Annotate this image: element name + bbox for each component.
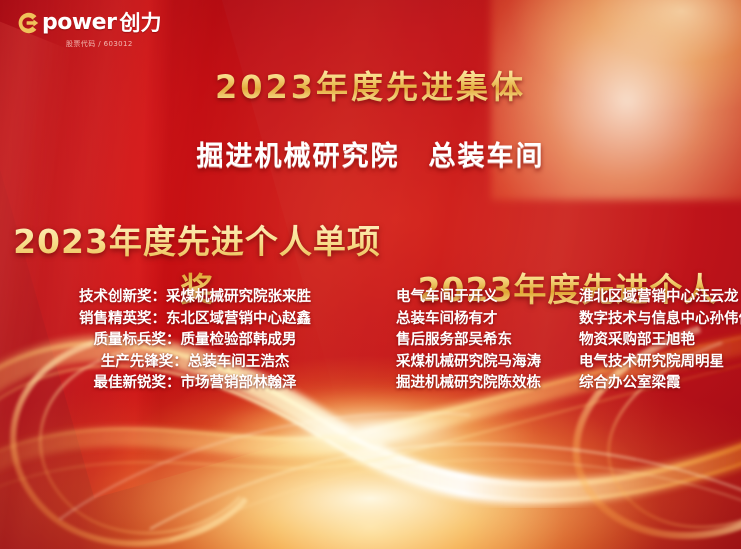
individual-winner: 数字技术与信息中心孙伟伟 [579,309,741,331]
stock-code-label: 股票代码 / 603012 [66,39,214,49]
c-power-plug-icon [14,10,40,36]
logo-wordmark-cn: 创力 [119,13,161,34]
special-award-list: 技术创新奖：采煤机械研究院张来胜销售精英奖：东北区域营销中心赵鑫质量标兵奖：质量… [0,287,390,395]
award-poster: power 创力 股票代码 / 603012 2023年度先进集体 掘进机械研究… [0,0,741,549]
title-advanced-collective: 2023年度先进集体 [0,62,741,108]
individual-winner: 淮北区域营销中心汪云龙 [579,287,741,309]
individual-winner: 总装车间杨有才 [396,309,571,331]
logo-row: power 创力 [14,10,214,36]
individual-list-grid: 电气车间于开义淮北区域营销中心汪云龙总装车间杨有才数字技术与信息中心孙伟伟售后服… [390,287,741,395]
special-award-row: 技术创新奖：采煤机械研究院张来胜 [0,287,390,309]
individual-winner: 掘进机械研究院陈效栋 [396,373,571,395]
poster-content: 2023年度先进集体 掘进机械研究院 总装车间 2023年度先进个人单项奖 20… [0,0,741,549]
special-award-row: 质量标兵奖：质量检验部韩成男 [0,330,390,352]
individual-winner: 采煤机械研究院马海涛 [396,352,571,374]
winner-lists: 技术创新奖：采煤机械研究院张来胜销售精英奖：东北区域营销中心赵鑫质量标兵奖：质量… [0,287,741,395]
special-award-row: 生产先锋奖：总装车间王浩杰 [0,352,390,374]
collective-winners: 掘进机械研究院 总装车间 [0,134,741,173]
individual-winner: 售后服务部吴希东 [396,330,571,352]
individual-winner: 物资采购部王旭艳 [579,330,741,352]
individual-winner: 综合办公室梁霞 [579,373,741,395]
individual-winner: 电气车间于开义 [396,287,571,309]
logo-wordmark: power [42,12,116,34]
company-logo: power 创力 股票代码 / 603012 [14,10,214,49]
special-award-list-inner: 技术创新奖：采煤机械研究院张来胜销售精英奖：东北区域营销中心赵鑫质量标兵奖：质量… [0,287,390,395]
special-award-row: 最佳新锐奖：市场营销部林翰泽 [0,373,390,395]
individual-winner: 电气技术研究院周明星 [579,352,741,374]
individual-list: 电气车间于开义淮北区域营销中心汪云龙总装车间杨有才数字技术与信息中心孙伟伟售后服… [390,287,741,395]
special-award-row: 销售精英奖：东北区域营销中心赵鑫 [0,309,390,331]
